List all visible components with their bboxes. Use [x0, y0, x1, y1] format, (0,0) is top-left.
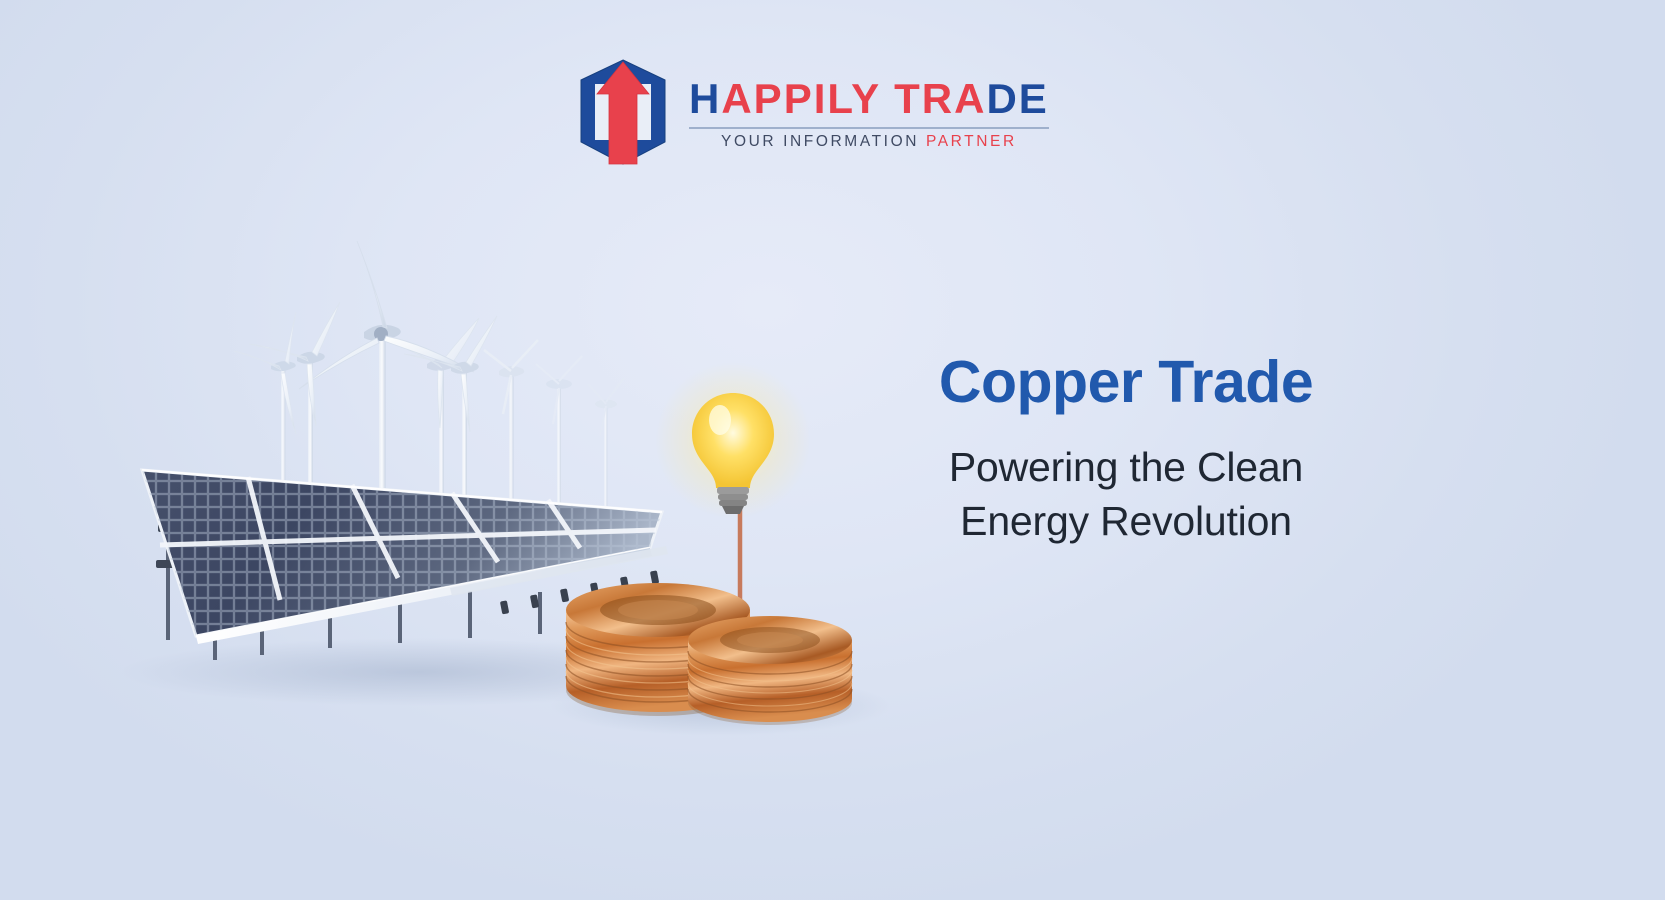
- glowing-light-bulb: [655, 362, 811, 518]
- promotional-banner: HAPPILY TRADE YOUR INFORMATION PARTNER C…: [0, 0, 1665, 900]
- brand-logo[interactable]: HAPPILY TRADE YOUR INFORMATION PARTNER: [575, 58, 1049, 166]
- brand-name: HAPPILY TRADE: [689, 78, 1049, 120]
- brand-name-seg4: DE: [986, 75, 1048, 122]
- page-subtitle: Powering the Clean Energy Revolution: [876, 440, 1376, 549]
- tagline-seg1: YOUR INFORMATION: [721, 133, 926, 150]
- brand-name-seg3-red: A: [954, 75, 986, 122]
- happily-trade-logo-icon: [575, 58, 671, 166]
- brand-wordmark: HAPPILY TRADE YOUR INFORMATION PARTNER: [689, 74, 1049, 150]
- headline-block: Copper Trade Powering the Clean Energy R…: [876, 352, 1376, 549]
- bulb-highlight: [709, 405, 731, 435]
- brand-name-seg2-red: APPILY TR: [721, 75, 954, 122]
- copper-wire-coil-small: [688, 616, 852, 725]
- subtitle-line-2: Energy Revolution: [960, 498, 1292, 544]
- page-title: Copper Trade: [876, 352, 1376, 414]
- wind-turbine-6: [536, 356, 582, 525]
- brand-tagline: YOUR INFORMATION PARTNER: [689, 134, 1049, 150]
- wind-turbine-7: [588, 378, 624, 525]
- brand-name-seg1: H: [689, 75, 721, 122]
- subtitle-line-1: Powering the Clean: [949, 444, 1303, 490]
- tagline-seg2-red: PARTNER: [926, 133, 1017, 150]
- logo-divider-rule: [689, 127, 1049, 129]
